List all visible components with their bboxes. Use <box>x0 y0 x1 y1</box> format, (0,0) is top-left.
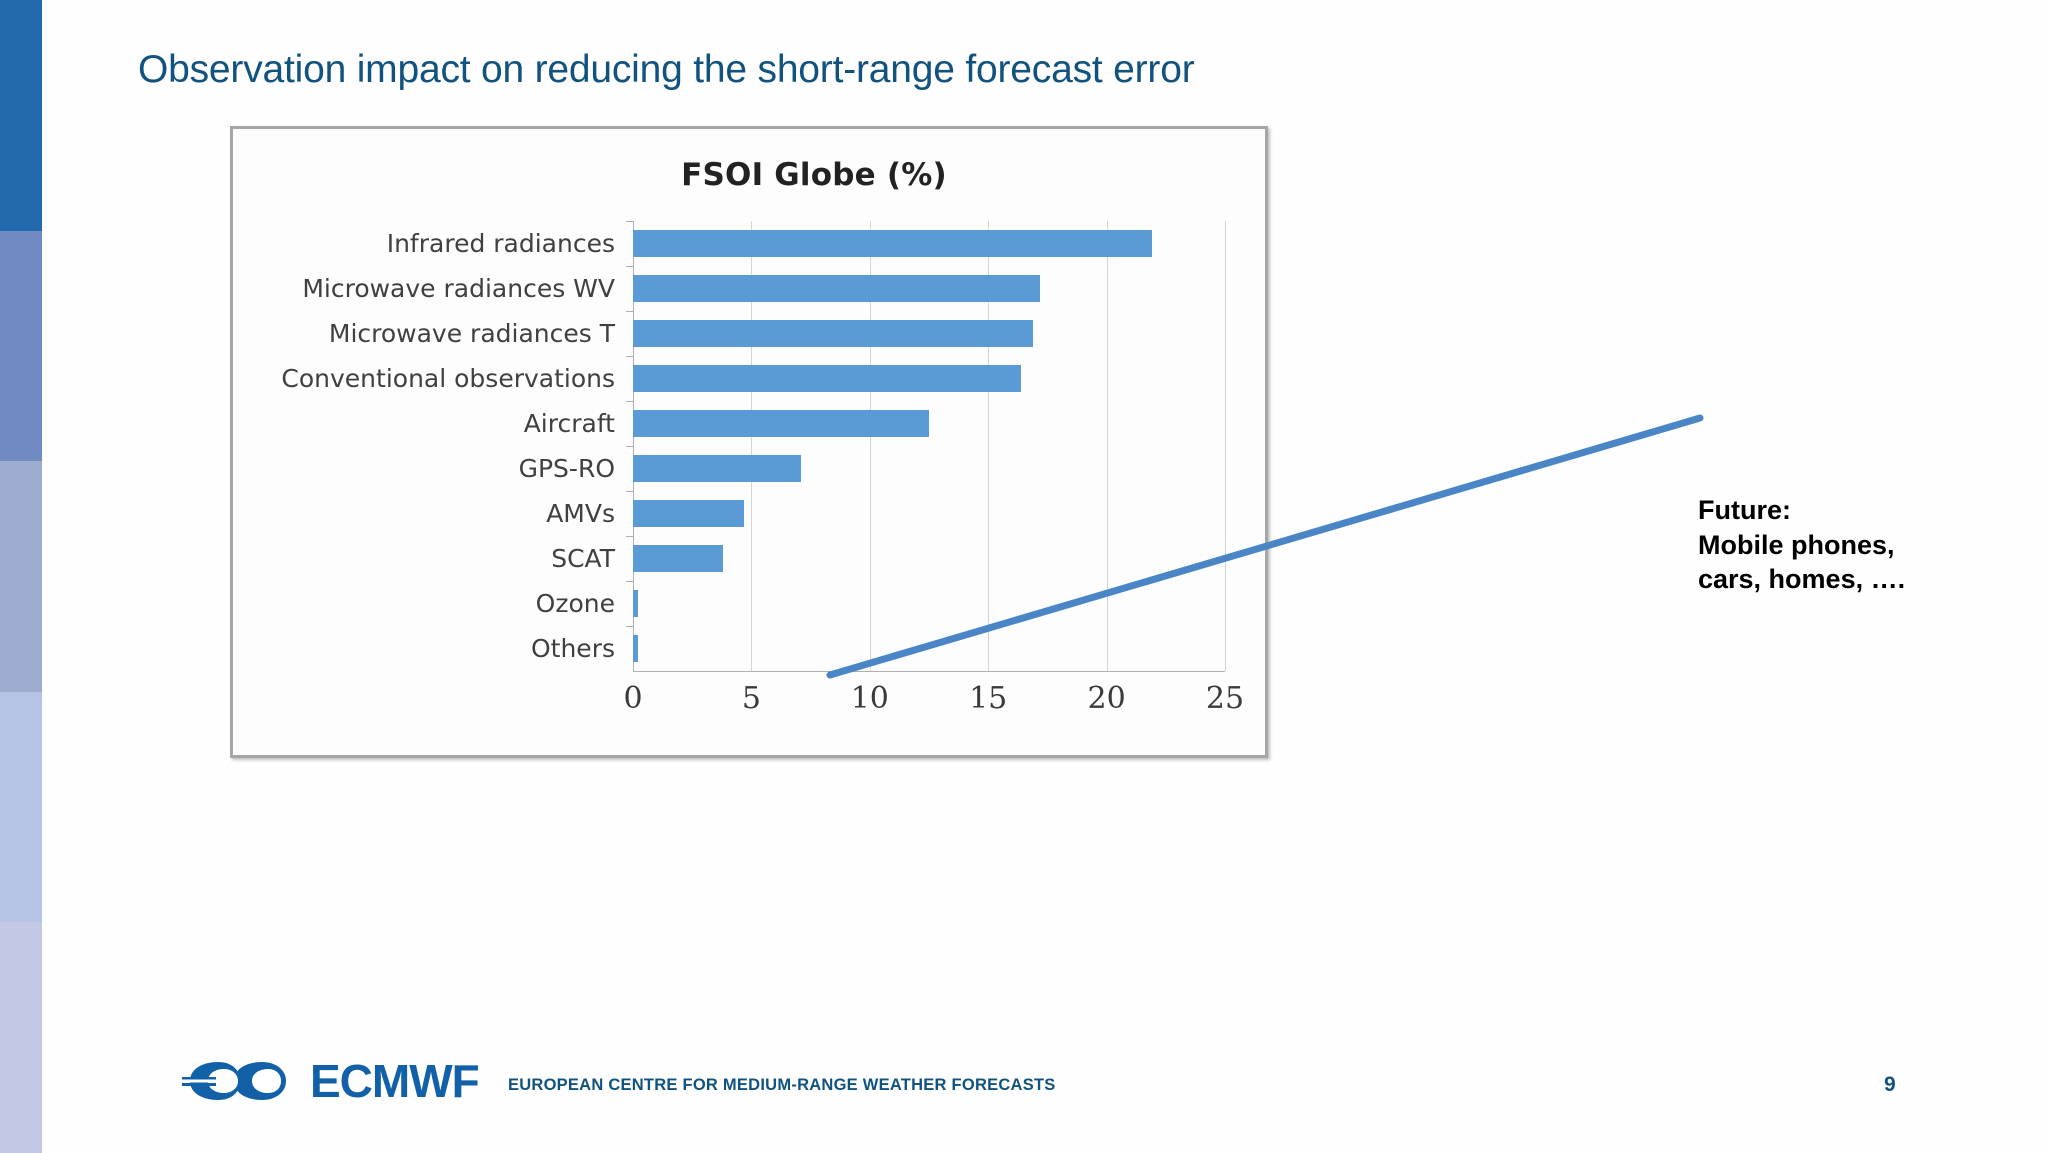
chart-bar-row <box>633 221 1225 266</box>
ecmwf-wordmark: ECMWF <box>310 1058 479 1104</box>
chart-bar-row <box>633 536 1225 581</box>
chart-bar <box>633 500 744 526</box>
chart-bar-row <box>633 311 1225 356</box>
chart-x-axis-line <box>633 671 1225 672</box>
chart-canvas: FSOI Globe (%) Infrared radiancesMicrowa… <box>233 129 1265 755</box>
gridline-25 <box>1225 221 1226 671</box>
x-tick-label: 15 <box>969 681 1007 716</box>
page-title: Observation impact on reducing the short… <box>138 48 1195 92</box>
y-tick <box>626 536 633 537</box>
category-label: Ozone <box>253 581 625 626</box>
decorative-sidebar-strip <box>0 0 42 1153</box>
chart-bar <box>633 320 1033 346</box>
x-tick-label: 20 <box>1088 681 1126 716</box>
category-label: Others <box>253 626 625 671</box>
category-label: Microwave radiances WV <box>253 266 625 311</box>
sidebar-band-5 <box>0 922 42 1153</box>
chart-bar <box>633 545 723 571</box>
future-callout-line: cars, homes, …. <box>1698 562 1905 597</box>
y-tick <box>626 581 633 582</box>
ecmwf-logo: ECMWF <box>182 1058 479 1104</box>
category-label: Infrared radiances <box>253 221 625 266</box>
category-label: GPS-RO <box>253 446 625 491</box>
chart-plot-area <box>633 221 1225 671</box>
y-tick <box>626 401 633 402</box>
chart-bar <box>633 410 929 436</box>
chart-figure-frame: FSOI Globe (%) Infrared radiancesMicrowa… <box>230 126 1268 758</box>
chart-title: FSOI Globe (%) <box>233 157 1265 193</box>
y-tick <box>626 491 633 492</box>
chart-bar <box>633 365 1021 391</box>
y-tick <box>626 626 633 627</box>
chart-bar-row <box>633 266 1225 311</box>
category-label: Conventional observations <box>253 356 625 401</box>
ecmwf-mark-icon <box>182 1058 294 1104</box>
sidebar-band-4 <box>0 692 42 923</box>
chart-bar-row <box>633 491 1225 536</box>
chart-category-axis: Infrared radiancesMicrowave radiances WV… <box>253 221 625 671</box>
category-label: AMVs <box>253 491 625 536</box>
chart-bar-row <box>633 446 1225 491</box>
chart-bar-row <box>633 626 1225 671</box>
x-tick-label: 10 <box>851 681 889 716</box>
future-callout-line: Future: <box>1698 493 1905 528</box>
chart-bar <box>633 455 801 481</box>
chart-bar-row <box>633 401 1225 446</box>
future-callout-line: Mobile phones, <box>1698 528 1905 563</box>
sidebar-band-2 <box>0 231 42 462</box>
sidebar-band-3 <box>0 461 42 692</box>
chart-bars <box>633 221 1225 671</box>
chart-bar <box>633 635 638 661</box>
chart-bar <box>633 275 1040 301</box>
category-label: Aircraft <box>253 401 625 446</box>
future-callout-text: Future:Mobile phones,cars, homes, …. <box>1698 493 1905 597</box>
chart-bar <box>633 590 638 616</box>
y-tick <box>626 356 633 357</box>
chart-bar-row <box>633 356 1225 401</box>
chart-bar-row <box>633 581 1225 626</box>
chart-x-tick-labels: 0510152025 <box>633 681 1225 721</box>
sidebar-band-1 <box>0 0 42 231</box>
y-tick <box>626 266 633 267</box>
page-number: 9 <box>1884 1073 1896 1097</box>
y-tick <box>626 446 633 447</box>
x-tick-label: 25 <box>1206 681 1244 716</box>
category-label: Microwave radiances T <box>253 311 625 356</box>
x-tick-label: 0 <box>623 681 642 716</box>
x-tick-label: 5 <box>742 681 761 716</box>
category-label: SCAT <box>253 536 625 581</box>
chart-bar <box>633 230 1152 256</box>
y-tick <box>626 311 633 312</box>
footer-tagline: EUROPEAN CENTRE FOR MEDIUM-RANGE WEATHER… <box>508 1076 1056 1095</box>
y-tick <box>626 221 633 222</box>
